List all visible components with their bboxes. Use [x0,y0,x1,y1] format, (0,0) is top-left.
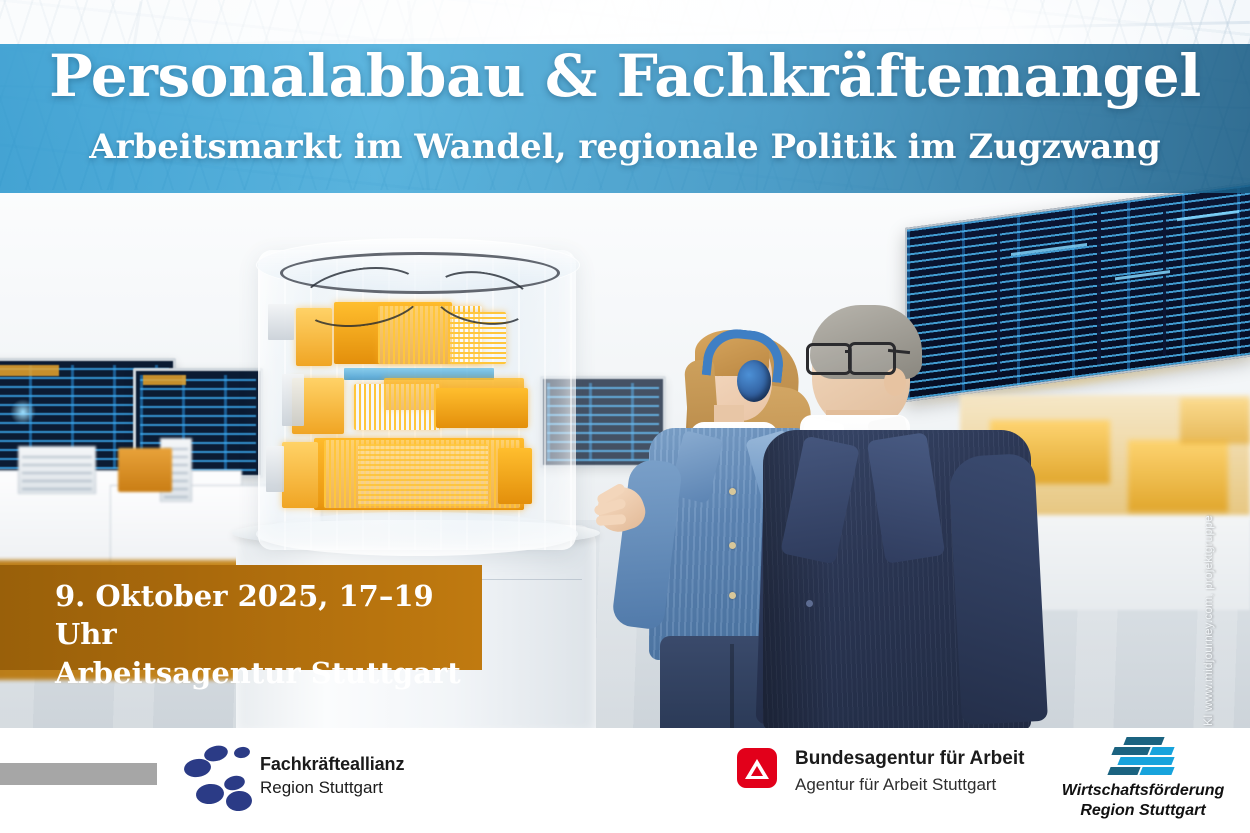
logo-wrs-line1: Wirtschaftsförderung [1043,782,1243,800]
silver-module [282,374,304,426]
logo-fachkraefteallianz-line2: Region Stuttgart [260,778,383,798]
monitor-header-bar [0,365,59,375]
event-poster: KI www.midjourney.com, projektgruppe Per… [0,0,1250,833]
dot [195,783,225,806]
logo-fachkraefteallianz[interactable]: Fachkräfteallianz Region Stuttgart [176,740,436,820]
display-divider [997,231,1000,374]
wrs-bar [1149,747,1174,755]
headphone-cup-icon [737,360,771,402]
man-arm-right [948,453,1048,725]
logo-fachkraefteallianz-line1: Fachkräfteallianz [260,754,404,775]
gold-exhibit-blur [1180,398,1250,444]
woman-finger [596,514,627,526]
gold-fins [358,444,488,506]
silver-module [268,304,294,340]
page-subtitle: Arbeitsmarkt im Wandel, regionale Politi… [0,129,1250,166]
logo-bundesagentur-fuer-arbeit[interactable]: Bundesagentur für Arbeit Agentur für Arb… [737,746,1037,818]
gold-fins [354,384,440,430]
gold-module [436,388,528,428]
eyeglasses-icon [806,343,852,375]
gold-module [282,442,318,508]
blue-dot-cluster-icon [176,746,254,818]
monitor-header-bar [143,375,185,384]
image-credit: KI www.midjourney.com, projektgruppe [1215,480,1233,726]
display-divider [1097,211,1101,365]
dot [233,746,251,760]
wrs-bar [1139,767,1174,775]
logo-ba-line1: Bundesagentur für Arbeit [795,748,1024,770]
eyeglasses-icon [848,342,896,375]
wrs-bar [1107,767,1140,775]
page-title: Personalabbau & Fachkräftemangel [0,46,1250,106]
cylinder-bottom-rim [256,512,578,556]
wrs-bar [1111,747,1150,755]
dot [223,774,247,793]
wrs-bar [1123,737,1164,745]
display-divider [1163,206,1166,356]
event-date-time: 9. Oktober 2025, 17–19 Uhr [0,565,482,654]
equipment-rack [18,446,96,494]
placeholder-gray-bar [0,763,157,785]
logo-wirtschaftsfoerderung[interactable]: Wirtschaftsförderung Region Stuttgart [1043,736,1243,828]
footer-logo-bar: Fachkräfteallianz Region Stuttgart Bunde… [0,728,1250,833]
gold-module [498,448,532,504]
gold-exhibit-blur [1128,440,1228,512]
logo-wrs-line2: Region Stuttgart [1043,802,1243,820]
event-details-box: 9. Oktober 2025, 17–19 Uhr Arbeitsagentu… [0,565,482,670]
jacket-button [729,488,736,495]
image-credit-text: KI www.midjourney.com, projektgruppe [1201,515,1215,726]
jacket-button [729,542,736,549]
dot [183,757,212,779]
suit-button [806,600,813,607]
monitor-glow [10,399,36,425]
dot [225,790,252,812]
ba-triangle-inner [751,766,763,776]
amber-equipment [118,448,172,492]
silver-module [266,446,284,492]
jacket-button [729,592,736,599]
ba-triangle-icon [737,748,777,788]
wrs-bar [1117,757,1174,765]
eyeglasses-bridge [845,350,851,353]
wrs-bars-icon [1103,736,1183,776]
logo-ba-line2: Agentur für Arbeit Stuttgart [795,775,996,795]
event-venue: Arbeitsagentur Stuttgart [0,654,482,692]
